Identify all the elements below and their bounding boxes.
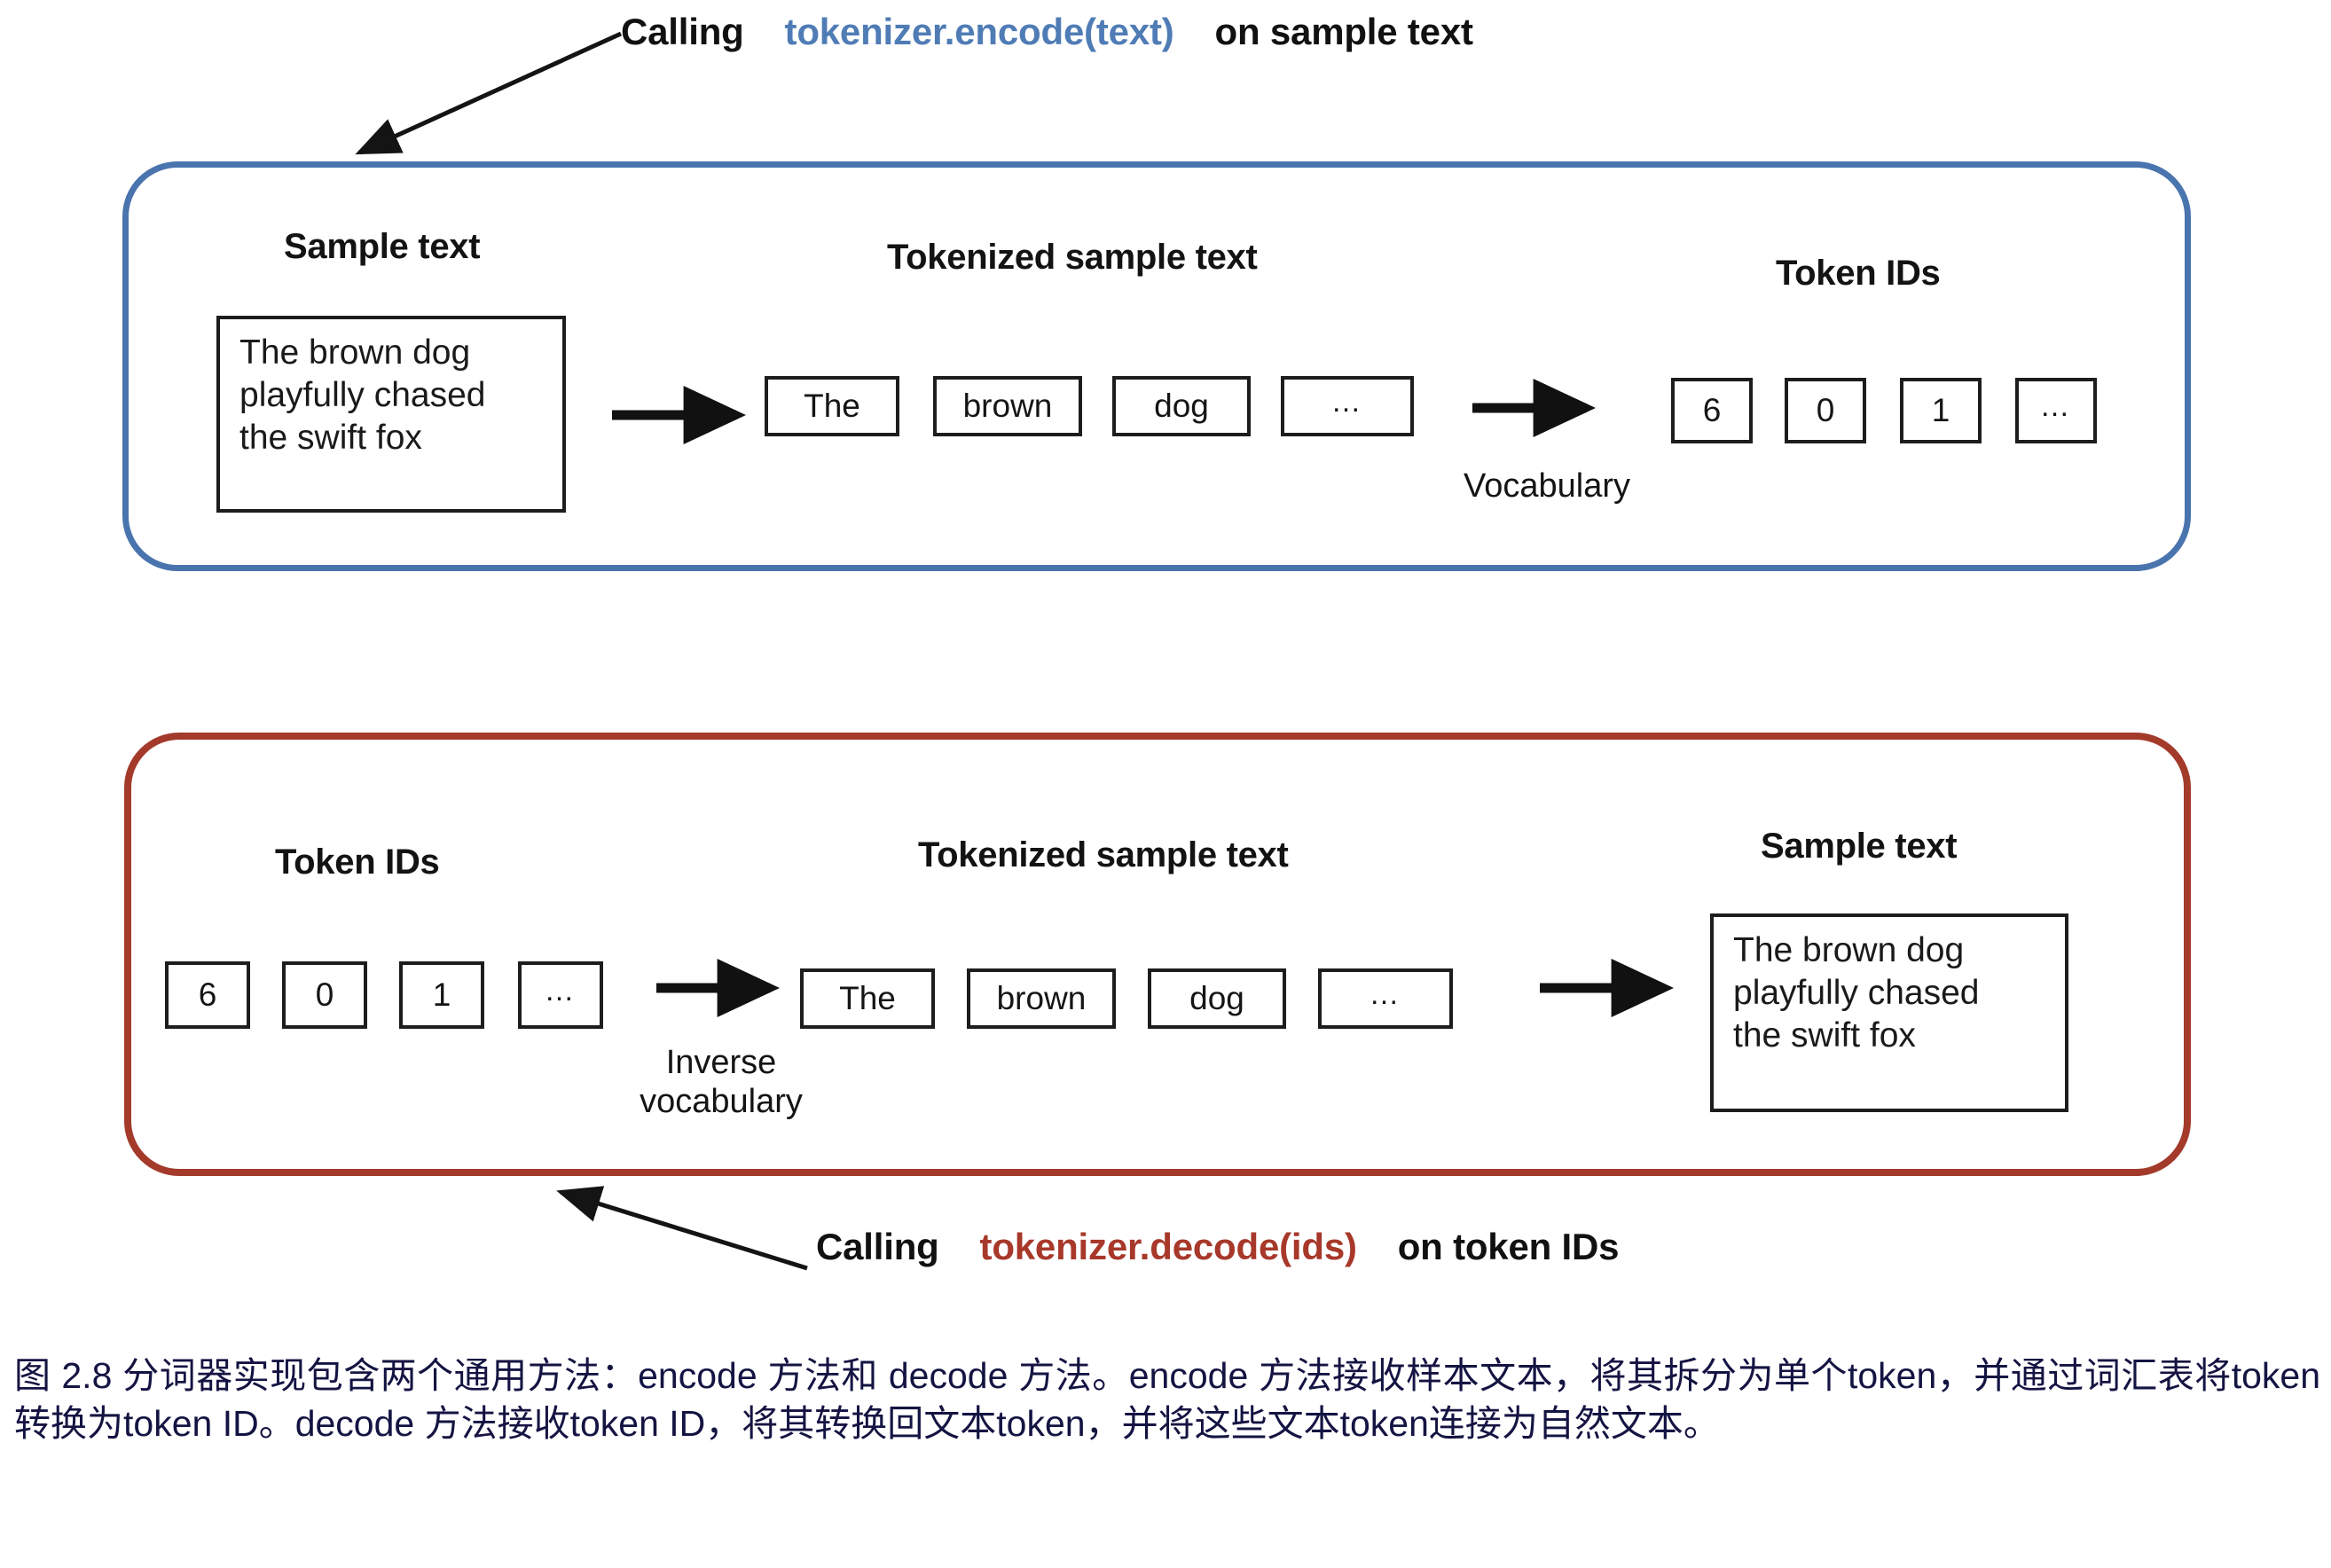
decode-callout-arrow [541,1180,834,1295]
decode-token-cell: The [800,968,935,1029]
encode-callout: Calling tokenizer.encode(text) on sample… [621,11,1473,53]
encode-token-id-cell: 1 [1900,378,1982,443]
decode-token-cell: brown [967,968,1116,1029]
encode-token-id-cell: 0 [1785,378,1866,443]
encode-token-ids-heading: Token IDs [1776,254,1940,294]
decode-token-id-cell: 6 [165,961,250,1029]
encode-vocabulary-label: Vocabulary [1432,466,1662,506]
decode-token-id-cell: 1 [399,961,484,1029]
encode-token-cell: The [765,376,899,436]
encode-token-cell: brown [933,376,1082,436]
decode-callout: Calling tokenizer.decode(ids) on token I… [816,1226,1619,1268]
encode-sample-text-heading: Sample text [284,227,480,267]
decode-token-ids-heading: Token IDs [275,843,439,882]
encode-callout-arrow [337,27,639,169]
decode-callout-prefix: Calling [816,1226,939,1267]
decode-token-id-cell: 0 [282,961,367,1029]
decode-token-id-cell: … [518,961,603,1029]
encode-callout-suffix: on sample text [1215,11,1473,52]
encode-token-id-cell: … [2015,378,2097,443]
figure-canvas: Calling tokenizer.encode(text) on sample… [0,0,2331,1568]
decode-sample-text-box: The brown dog playfully chased the swift… [1710,913,2068,1112]
decode-inverse-vocabulary-label: Inverse vocabulary [593,1043,850,1121]
decode-tokenized-heading: Tokenized sample text [918,835,1289,875]
encode-token-cell: dog [1112,376,1251,436]
encode-sample-text-box: The brown dog playfully chased the swift… [216,316,566,513]
decode-token-cell: dog [1148,968,1286,1029]
figure-caption: 图 2.8 分词器实现包含两个通用方法：encode 方法和 decode 方法… [14,1352,2320,1447]
encode-callout-prefix: Calling [621,11,744,52]
encode-token-cell: … [1281,376,1414,436]
encode-token-id-cell: 6 [1671,378,1753,443]
decode-sample-text-heading: Sample text [1761,827,1957,866]
decode-callout-code: tokenizer.decode(ids) [980,1226,1357,1267]
encode-callout-code: tokenizer.encode(text) [785,11,1174,52]
decode-callout-suffix: on token IDs [1398,1226,1620,1267]
decode-token-cell: … [1318,968,1453,1029]
encode-tokenized-heading: Tokenized sample text [887,238,1258,278]
